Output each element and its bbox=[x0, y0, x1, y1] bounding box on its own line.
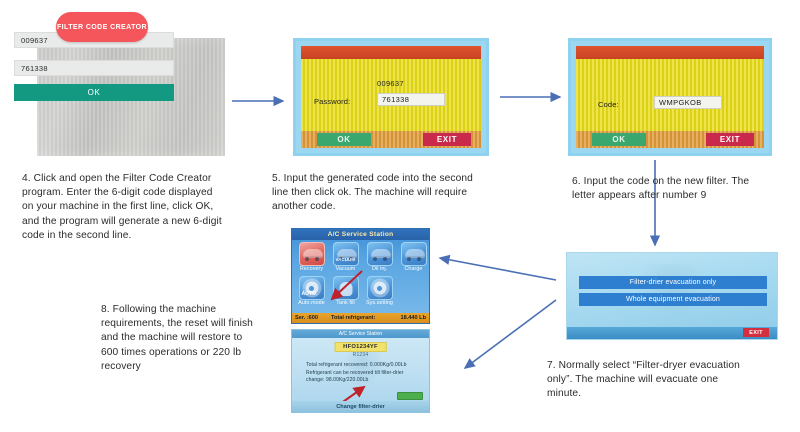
car-charge-icon bbox=[401, 242, 427, 266]
change-filter-drier-screen: A/C Service Station HFO1234YF R1234 Tota… bbox=[291, 329, 430, 413]
menu-item-label: Oil inj. bbox=[364, 266, 395, 273]
caption-step-4: 4. Click and open the Filter Code Creato… bbox=[22, 172, 262, 243]
menu-item-label: Auto.mode bbox=[296, 300, 327, 307]
caption-step-8: 8. Following the machine requirements, t… bbox=[101, 303, 286, 374]
refrigerant-subtype: R1234 bbox=[353, 352, 369, 358]
auto-mode-icon: AUTO. bbox=[299, 276, 325, 300]
arrow-evacuation-to-menu bbox=[440, 258, 556, 280]
menu-item-oil-inj[interactable]: Oil inj. bbox=[364, 242, 395, 273]
evacuation-option-filter-drier[interactable]: Filter-drier evacuation only bbox=[579, 276, 767, 289]
menu-item-recovery[interactable]: Recovery bbox=[296, 242, 327, 273]
status-total-label: Total refrigerant: bbox=[331, 315, 375, 321]
screen-footer: OK EXIT bbox=[301, 131, 481, 148]
menu-item-sys-setting[interactable]: Sys.setting bbox=[364, 276, 395, 307]
status-serial: Ser. :600 bbox=[295, 315, 318, 321]
screen-footer: OK EXIT bbox=[576, 131, 764, 148]
password-exit-button[interactable]: EXIT bbox=[423, 133, 471, 146]
evacuation-exit-button[interactable]: EXIT bbox=[743, 328, 769, 337]
car-recovery-icon bbox=[299, 242, 325, 266]
screen-titlebar bbox=[301, 46, 481, 59]
password-ok-button[interactable]: OK bbox=[317, 133, 371, 146]
drier-info-lines: Total refrigerant recovered: 0.000Kg/0.0… bbox=[306, 362, 419, 385]
code-input[interactable]: WMPGKOB bbox=[654, 96, 722, 109]
app-ok-button[interactable]: OK bbox=[14, 84, 174, 101]
code-label: Code: bbox=[598, 100, 619, 109]
menu-status-bar: Ser. :600 Total refrigerant: 18.440 Lb bbox=[292, 313, 429, 323]
caption-step-7: 7. Normally select “Filter-dryer evacuat… bbox=[547, 359, 792, 402]
password-label: Password: bbox=[314, 97, 350, 106]
caption-step-6: 6. Input the code on the new filter. The… bbox=[572, 175, 797, 203]
drier-title: A/C Service Station bbox=[292, 330, 429, 338]
displayed-machine-code: 009637 bbox=[377, 79, 404, 88]
menu-item-auto-mode[interactable]: AUTO. Auto.mode bbox=[296, 276, 327, 307]
filter-code-creator-badge: FILTER CODE CREATOR bbox=[56, 12, 148, 42]
drier-confirm-button[interactable] bbox=[397, 392, 423, 400]
machine-password-screen: 009637 Password: 761338 OK EXIT bbox=[293, 38, 489, 156]
gear-settings-icon bbox=[367, 276, 393, 300]
menu-item-label: Sys.setting bbox=[364, 300, 395, 307]
menu-item-label: Charge bbox=[398, 266, 429, 273]
menu-item-charge[interactable]: Charge bbox=[398, 242, 429, 273]
evacuation-option-whole-equipment[interactable]: Whole equipment evacuation bbox=[579, 293, 767, 306]
caption-step-5: 5. Input the generated code into the sec… bbox=[272, 172, 512, 215]
drier-footer-label: Change filter-drier bbox=[292, 401, 429, 412]
evacuation-footer: EXIT bbox=[567, 327, 777, 339]
drier-line-till: Refrigerant can be recovered till filter… bbox=[306, 370, 419, 378]
ac-service-station-menu: A/C Service Station Recovery VACUUM Vacu… bbox=[291, 228, 430, 324]
red-annotation-arrow bbox=[326, 269, 366, 303]
screen-titlebar bbox=[576, 46, 764, 59]
car-oil-inject-icon bbox=[367, 242, 393, 266]
generated-code-input[interactable]: 761338 bbox=[14, 60, 174, 76]
menu-title: A/C Service Station bbox=[292, 229, 429, 240]
slide-canvas: FILTER CODE CREATOR 009637 761338 OK 009… bbox=[0, 0, 800, 432]
arrow-evacuation-to-drier bbox=[465, 300, 556, 368]
evacuation-options-screen: Filter-drier evacuation only Whole equip… bbox=[566, 252, 778, 340]
car-vacuum-icon: VACUUM bbox=[333, 242, 359, 266]
refrigerant-type-chip: HFO1234YF bbox=[334, 342, 387, 352]
machine-code-screen: Code: WMPGKOB OK EXIT bbox=[568, 38, 772, 156]
drier-line-total: Total refrigerant recovered: 0.000Kg/0.0… bbox=[306, 362, 419, 370]
screen-body: Code: WMPGKOB bbox=[576, 59, 764, 131]
menu-item-label: Recovery bbox=[296, 266, 327, 273]
code-exit-button[interactable]: EXIT bbox=[706, 133, 754, 146]
password-input[interactable]: 761338 bbox=[377, 93, 445, 106]
status-total-amount: 18.440 Lb bbox=[401, 315, 427, 321]
screen-body: 009637 Password: 761338 bbox=[301, 59, 481, 131]
code-ok-button[interactable]: OK bbox=[592, 133, 646, 146]
